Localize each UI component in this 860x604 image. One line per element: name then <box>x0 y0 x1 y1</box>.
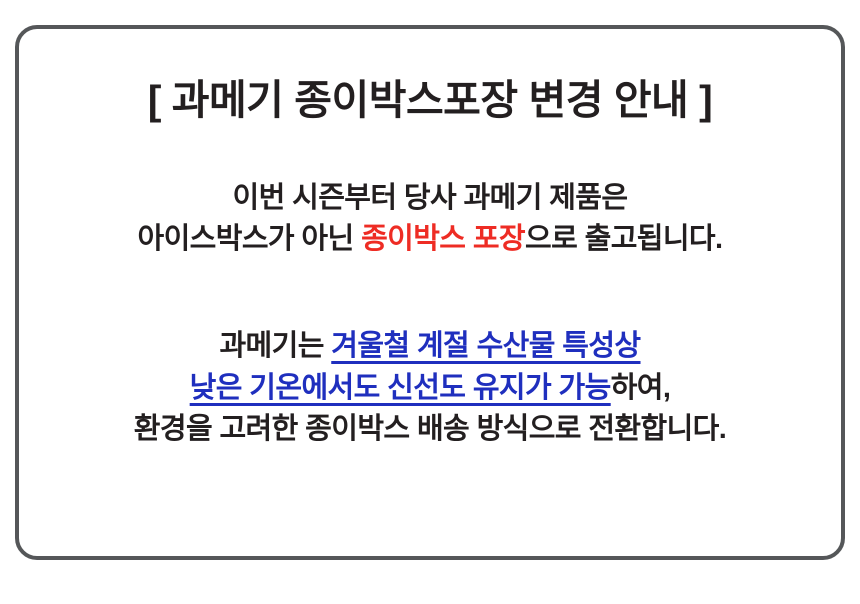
reason-line-2-suffix: 하여, <box>611 372 671 404</box>
intro-line-1: 이번 시즌부터 당사 과메기 제품은 <box>138 178 723 219</box>
notice-title: [ 과메기 종이박스포장 변경 안내 ] <box>148 77 713 124</box>
reason-paragraph: 과메기는 겨울철 계절 수산물 특성상 낮은 기온에서도 신선도 유지가 가능하… <box>134 326 726 450</box>
reason-line-2: 낮은 기온에서도 신선도 유지가 가능하여, <box>134 368 726 409</box>
notice-content: [ 과메기 종이박스포장 변경 안내 ] 이번 시즌부터 당사 과메기 제품은 … <box>19 29 841 556</box>
reason-line-3: 환경을 고려한 종이박스 배송 방식으로 전환합니다. <box>134 409 726 450</box>
intro-emphasis-paper-box: 종이박스 포장 <box>361 223 525 255</box>
reason-line-3-text: 환경을 고려한 종이박스 배송 방식으로 전환합니다. <box>134 413 726 445</box>
reason-line-1-prefix: 과메기는 <box>219 330 331 362</box>
intro-line-2-prefix: 아이스박스가 아닌 <box>138 223 362 255</box>
intro-line-2-suffix: 으로 출고됩니다. <box>525 223 722 255</box>
intro-paragraph: 이번 시즌부터 당사 과메기 제품은 아이스박스가 아닌 종이박스 포장으로 출… <box>138 178 723 260</box>
reason-emphasis-freshness: 낮은 기온에서도 신선도 유지가 가능 <box>190 372 611 404</box>
notice-card: [ 과메기 종이박스포장 변경 안내 ] 이번 시즌부터 당사 과메기 제품은 … <box>15 25 845 560</box>
intro-line-1-text: 이번 시즌부터 당사 과메기 제품은 <box>233 182 628 214</box>
reason-line-1: 과메기는 겨울철 계절 수산물 특성상 <box>134 326 726 367</box>
reason-emphasis-season: 겨울철 계절 수산물 특성상 <box>331 330 640 362</box>
intro-line-2: 아이스박스가 아닌 종이박스 포장으로 출고됩니다. <box>138 219 723 260</box>
